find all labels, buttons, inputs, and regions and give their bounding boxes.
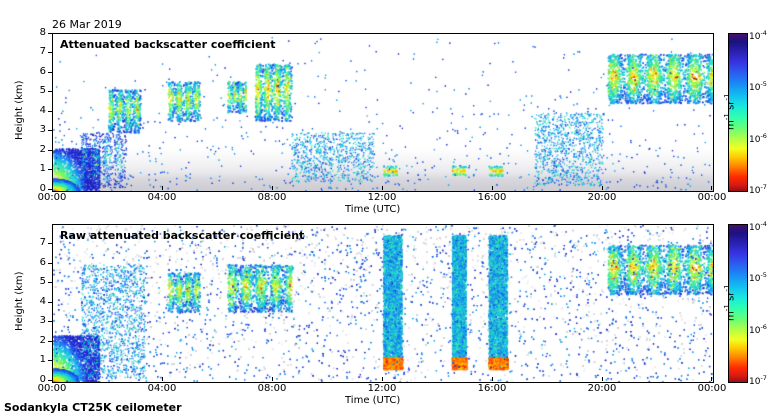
y-tick-1-4: 4 xyxy=(28,105,46,116)
x-tick-1-1: 04:00 xyxy=(142,192,182,203)
x-tickmark-1-5 xyxy=(602,186,603,190)
x-tickmark-2-1 xyxy=(162,377,163,381)
x-tickmark-1-3 xyxy=(382,186,383,190)
y-tick-1-2: 2 xyxy=(28,144,46,155)
cb1-mant-2: 10 xyxy=(749,135,760,145)
y-tickmark-2-7 xyxy=(48,243,52,244)
x-tick-1-3: 12:00 xyxy=(362,192,402,203)
colorbar-1-unit: m-1 sr-1 xyxy=(722,93,736,130)
x-tickmark-2-0 xyxy=(52,377,53,381)
x-tickmark-1-2 xyxy=(272,186,273,190)
cb1-unit-e1: -1 xyxy=(722,113,731,120)
y-tick-2-5: 5 xyxy=(28,276,46,287)
colorbar-1-tick-1: 10-5 xyxy=(749,80,767,93)
cb1-unit-sr: sr xyxy=(725,101,736,114)
cb2-unit-sr: sr xyxy=(725,292,736,305)
x-tickmark-2-5 xyxy=(602,377,603,381)
y-tickmark-2-3 xyxy=(48,321,52,322)
y-tickmark-1-6 xyxy=(48,72,52,73)
x-axis-label-1: Time (UTC) xyxy=(345,204,400,215)
y-tick-2-7: 7 xyxy=(28,237,46,248)
cb2-mant-0: 10 xyxy=(749,223,760,233)
cb2-exp-1: -5 xyxy=(760,271,766,279)
x-tickmark-2-4 xyxy=(492,377,493,381)
x-tickmark-1-4 xyxy=(492,186,493,190)
y-tickmark-2-2 xyxy=(48,341,52,342)
panel-title-2: Raw attenuated backscatter coefficient xyxy=(60,229,304,242)
y-tick-1-5: 5 xyxy=(28,85,46,96)
cb2-exp-3: -7 xyxy=(760,374,766,382)
heatmap-canvas-2 xyxy=(53,225,713,382)
panel-title-1: Attenuated backscatter coefficient xyxy=(60,38,276,51)
y-tickmark-1-2 xyxy=(48,150,52,151)
colorbar-2-tick-3: 10-7 xyxy=(749,374,767,387)
cb2-mant-2: 10 xyxy=(749,326,760,336)
x-tick-1-2: 08:00 xyxy=(252,192,292,203)
y-tickmark-2-4 xyxy=(48,302,52,303)
y-tick-1-7: 7 xyxy=(28,46,46,57)
y-tickmark-1-4 xyxy=(48,111,52,112)
cb1-exp-1: -5 xyxy=(760,80,766,88)
colorbar-1-tick-2: 10-6 xyxy=(749,132,767,145)
y-tick-2-3: 3 xyxy=(28,315,46,326)
x-tickmark-1-1 xyxy=(162,186,163,190)
x-tick-1-4: 16:00 xyxy=(472,192,512,203)
heatmap-canvas-1 xyxy=(53,34,713,191)
cb2-unit-m: m xyxy=(725,311,736,321)
x-tick-2-5: 20:00 xyxy=(582,383,622,394)
colorbar-2-tick-1: 10-5 xyxy=(749,271,767,284)
cb2-exp-0: -4 xyxy=(760,220,766,228)
colorbar-1-tick-3: 10-7 xyxy=(749,183,767,196)
y-tick-1-6: 6 xyxy=(28,66,46,77)
cb1-mant-3: 10 xyxy=(749,186,760,196)
y-tickmark-1-5 xyxy=(48,91,52,92)
y-tick-2-1: 1 xyxy=(28,354,46,365)
colorbar-2-tick-2: 10-6 xyxy=(749,323,767,336)
y-tick-1-8: 8 xyxy=(28,27,46,38)
x-tick-2-3: 12:00 xyxy=(362,383,402,394)
x-tick-2-6: 00:00 xyxy=(692,383,732,394)
y-tick-1-3: 3 xyxy=(28,124,46,135)
y-tickmark-1-7 xyxy=(48,52,52,53)
cb1-unit-m: m xyxy=(725,120,736,130)
cb1-unit-e2: -1 xyxy=(722,93,731,100)
x-tick-2-4: 16:00 xyxy=(472,383,512,394)
cb1-mant-0: 10 xyxy=(749,32,760,42)
x-tick-1-5: 20:00 xyxy=(582,192,622,203)
y-tick-2-4: 4 xyxy=(28,296,46,307)
cb2-mant-3: 10 xyxy=(749,377,760,387)
y-tick-2-2: 2 xyxy=(28,335,46,346)
colorbar-1-tick-0: 10-4 xyxy=(749,29,767,42)
x-tickmark-2-2 xyxy=(272,377,273,381)
x-tick-2-0: 00:00 xyxy=(32,383,72,394)
y-tick-1-1: 1 xyxy=(28,163,46,174)
y-tickmark-2-1 xyxy=(48,360,52,361)
y-tickmark-2-5 xyxy=(48,282,52,283)
x-tickmark-2-3 xyxy=(382,377,383,381)
x-tick-1-0: 00:00 xyxy=(32,192,72,203)
cb2-unit-e1: -1 xyxy=(722,304,731,311)
x-tickmark-1-6 xyxy=(711,186,712,190)
cb2-exp-2: -6 xyxy=(760,323,766,331)
x-axis-label-2: Time (UTC) xyxy=(345,395,400,406)
panel-attenuated-backscatter xyxy=(52,33,714,192)
x-tick-2-1: 04:00 xyxy=(142,383,182,394)
x-tickmark-1-0 xyxy=(52,186,53,190)
x-tick-1-6: 00:00 xyxy=(692,192,732,203)
y-tickmark-1-8 xyxy=(48,33,52,34)
date-label: 26 Mar 2019 xyxy=(52,18,122,31)
y-axis-label-1: Height (km) xyxy=(14,80,25,140)
y-axis-label-2: Height (km) xyxy=(14,271,25,331)
cb1-exp-0: -4 xyxy=(760,29,766,37)
figure-canvas: 26 Mar 2019 Attenuated backscatter coeff… xyxy=(0,0,780,420)
cb1-exp-3: -7 xyxy=(760,183,766,191)
y-tickmark-1-3 xyxy=(48,130,52,131)
x-tick-2-2: 08:00 xyxy=(252,383,292,394)
y-tickmark-1-1 xyxy=(48,169,52,170)
y-tickmark-2-6 xyxy=(48,263,52,264)
cb2-unit-e2: -1 xyxy=(722,284,731,291)
cb2-mant-1: 10 xyxy=(749,274,760,284)
cb1-exp-2: -6 xyxy=(760,132,766,140)
y-tick-2-6: 6 xyxy=(28,257,46,268)
colorbar-2-tick-0: 10-4 xyxy=(749,220,767,233)
x-tickmark-2-6 xyxy=(711,377,712,381)
footer-label: Sodankyla CT25K ceilometer xyxy=(4,401,182,414)
colorbar-2-unit: m-1 sr-1 xyxy=(722,284,736,321)
panel-raw-attenuated-backscatter xyxy=(52,224,714,383)
cb1-mant-1: 10 xyxy=(749,83,760,93)
